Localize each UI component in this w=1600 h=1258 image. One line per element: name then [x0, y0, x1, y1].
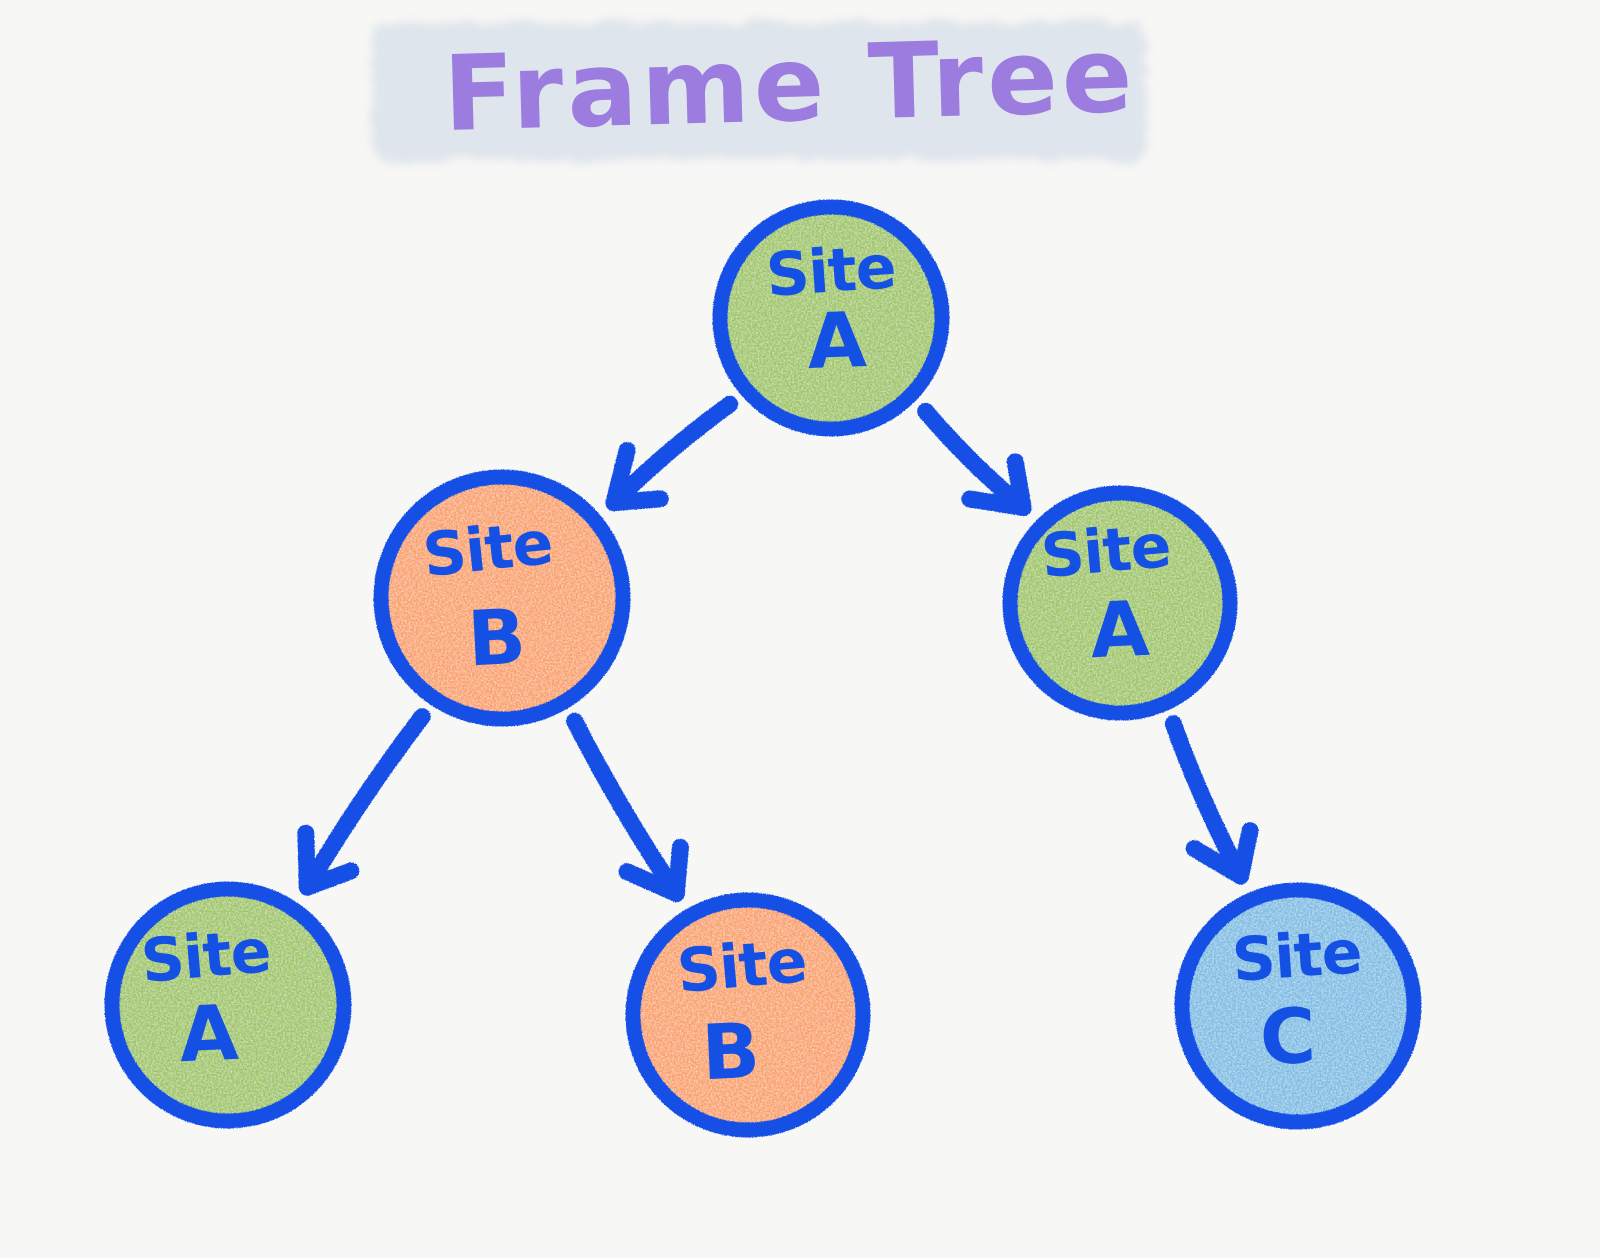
node-site-a-root[interactable]: SiteA	[720, 207, 942, 429]
node-label-site: Site	[1038, 511, 1173, 592]
node-label-site: Site	[1230, 917, 1364, 996]
node-label-letter: A	[806, 295, 868, 386]
arrow-site-a-to-site-c	[1173, 724, 1250, 876]
node-label-letter: B	[465, 592, 528, 684]
arrow-site-b-to-site-b	[575, 721, 681, 893]
node-site-b-level3[interactable]: SiteB	[633, 900, 863, 1130]
diagram-canvas: Frame Tree SiteASiteBSiteASiteASiteBSite…	[0, 0, 1600, 1258]
page-title: Frame Tree	[442, 14, 1138, 155]
node-label-letter: C	[1258, 991, 1317, 1082]
node-site-a-level3[interactable]: SiteA	[112, 889, 344, 1121]
node-site-c-level3[interactable]: SiteC	[1182, 890, 1414, 1122]
arrow-shaft	[307, 717, 422, 888]
node-label-letter: A	[1088, 584, 1151, 676]
arrow-site-b-to-site-a	[306, 717, 422, 888]
nodes-layer: SiteASiteBSiteASiteASiteBSiteC	[112, 207, 1414, 1130]
node-label-site: Site	[420, 508, 556, 591]
node-label-site: Site	[138, 916, 273, 997]
arrow-root-to-site-b	[614, 404, 730, 503]
frame-tree-diagram: Frame Tree SiteASiteBSiteASiteASiteBSite…	[0, 0, 1600, 1258]
arrow-root-to-site-a	[926, 411, 1023, 507]
node-label-site: Site	[674, 926, 809, 1007]
node-label-letter: A	[177, 988, 240, 1080]
node-site-a-level2[interactable]: SiteA	[1010, 493, 1230, 713]
node-label-letter: B	[700, 1006, 762, 1097]
node-site-b-level2[interactable]: SiteB	[381, 477, 623, 719]
